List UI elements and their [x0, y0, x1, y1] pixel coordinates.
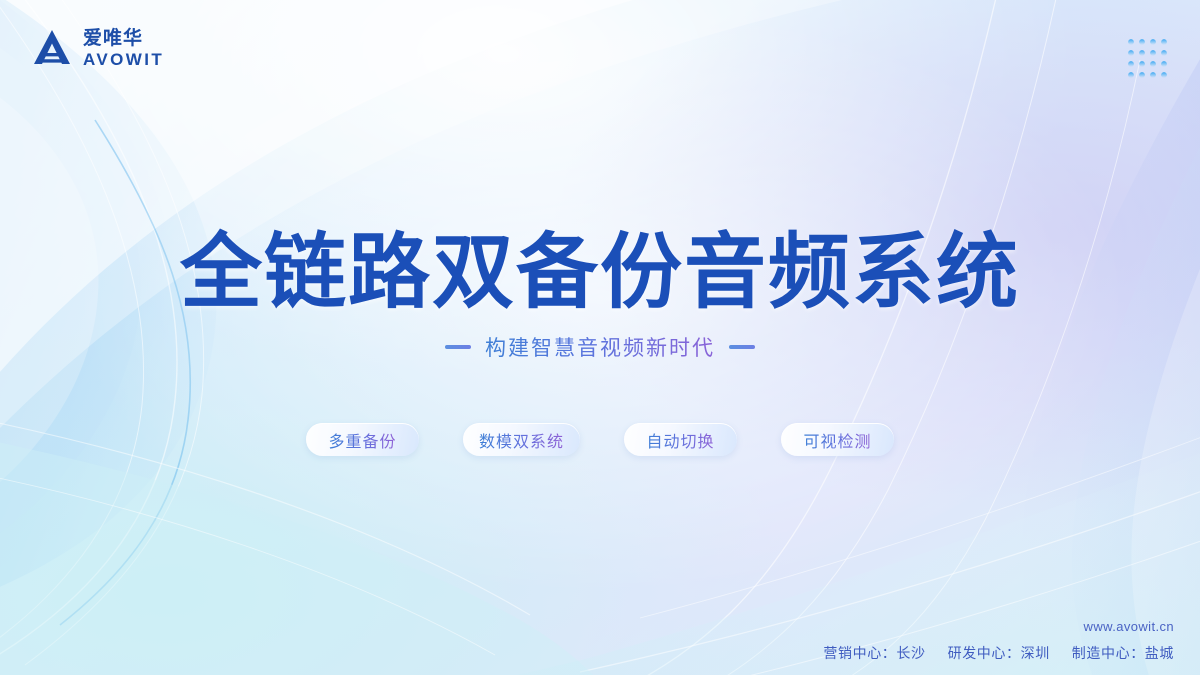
avowit-triangle-a-logo-icon	[30, 26, 74, 70]
office-item: 制造中心：盐城	[1072, 643, 1174, 663]
feature-pill-1[interactable]: 多重备份	[306, 423, 419, 456]
hero-title-block: 全链路双备份音频系统 构建智慧音视频新时代	[0, 232, 1200, 362]
office-item: 研发中心：深圳	[948, 643, 1050, 663]
feature-pill-label: 多重备份	[328, 428, 396, 452]
feature-pill-3[interactable]: 自动切换	[624, 423, 737, 456]
brand-name-cn: 爱唯华	[83, 29, 164, 48]
office-label: 营销中心：长沙	[823, 645, 925, 661]
dash-right-icon	[729, 345, 755, 349]
feature-pill-label: 自动切换	[646, 428, 714, 452]
presentation-slide: 爱唯华 AVOWIT 全链路双备份音频系统 构建智慧音视频新时代 多重备份 数模…	[0, 0, 1200, 675]
office-list: 营销中心：长沙 研发中心：深圳 制造中心：盐城	[823, 643, 1174, 663]
website-url[interactable]: www.avowit.cn	[823, 619, 1174, 634]
feature-pill-row: 多重备份 数模双系统 自动切换 可视检测	[0, 423, 1200, 456]
brand-logo-text: 爱唯华 AVOWIT	[83, 29, 164, 68]
brand-logo: 爱唯华 AVOWIT	[30, 26, 164, 70]
dash-left-icon	[445, 345, 471, 349]
office-label: 制造中心：盐城	[1072, 645, 1174, 661]
feature-pill-label: 可视检测	[803, 428, 871, 452]
brand-name-en: AVOWIT	[83, 51, 164, 68]
office-label: 研发中心：深圳	[948, 645, 1050, 661]
feature-pill-label: 数模双系统	[479, 428, 564, 452]
office-item: 营销中心：长沙	[823, 643, 925, 663]
page-title: 全链路双备份音频系统	[0, 232, 1200, 314]
hero-subtitle: 构建智慧音视频新时代	[485, 332, 715, 362]
hero-subtitle-row: 构建智慧音视频新时代	[0, 332, 1200, 362]
feature-pill-2[interactable]: 数模双系统	[463, 423, 580, 456]
feature-pill-4[interactable]: 可视检测	[781, 423, 894, 456]
footer: www.avowit.cn 营销中心：长沙 研发中心：深圳 制造中心：盐城	[823, 619, 1174, 663]
dot-grid-icon	[1128, 39, 1167, 78]
